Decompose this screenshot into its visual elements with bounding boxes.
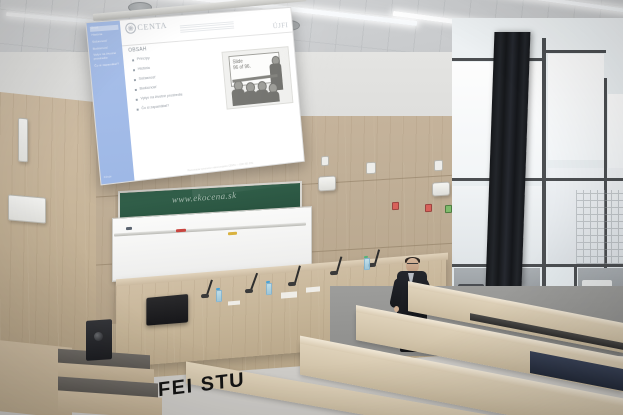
water-bottle — [216, 290, 222, 302]
wall-outlet — [425, 204, 432, 212]
bullet-text: Princípy — [137, 56, 150, 61]
presenter-glasses — [407, 263, 418, 267]
microphone-base — [245, 289, 253, 294]
slide-title: OBSAH — [128, 46, 147, 53]
water-bottle — [266, 283, 272, 295]
bullet-marker-icon — [133, 69, 135, 71]
window-mullion — [452, 178, 623, 181]
bullet-marker-icon — [132, 59, 134, 61]
cartoon-audience-body — [266, 91, 279, 103]
outside-fence — [576, 190, 623, 264]
wall-outlet — [445, 205, 452, 213]
bullet-text: Súčasnosť — [139, 75, 156, 81]
bottle-cap — [216, 288, 220, 290]
bullet-text: Vplyv na životné prostredie — [140, 93, 182, 101]
centa-wordmark: CENTA — [137, 21, 167, 32]
bullet-marker-icon — [135, 89, 137, 91]
slide-nav-footer-zdroje[interactable]: Zdroje — [104, 174, 112, 179]
red-marker — [176, 229, 186, 233]
bullet-marker-icon — [136, 98, 138, 100]
bullet-text: Čo si zapamätať? — [141, 104, 169, 111]
window-wall — [452, 18, 623, 308]
wall-sensor — [366, 162, 376, 175]
projection-screen: Úvod História Súčasnosť Budúcnosť Vplyv … — [85, 7, 304, 186]
laptop — [146, 294, 188, 326]
lecture-hall-photo: www.ekocena.sk Úvod História Súčasnosť B… — [0, 0, 623, 415]
slide-nav-item-buducnost[interactable]: Budúcnosť — [92, 45, 121, 52]
centa-logo: CENTA — [125, 20, 168, 34]
wall-speaker — [432, 182, 450, 197]
slide-nav-item-historia[interactable]: História — [90, 31, 119, 38]
presenter-left-hand — [394, 306, 399, 312]
board-eraser — [126, 227, 132, 230]
slide-nav-item-sucasnost[interactable]: Súčasnosť — [91, 38, 120, 45]
left-wall — [0, 92, 96, 352]
window-mullion — [452, 264, 623, 267]
wall-trim-strip — [18, 118, 28, 163]
chalkboard-handwriting: www.ekocena.sk — [172, 190, 237, 205]
bullet-item: Čo si zapamätať? — [136, 98, 227, 111]
bullet-text: Budúcnosť — [139, 85, 156, 91]
microphone-base — [330, 271, 338, 276]
header-hairline-texture — [180, 20, 235, 33]
window-mullion — [546, 50, 606, 53]
microphone-base — [201, 294, 209, 299]
wall-speaker — [8, 194, 46, 223]
microphone-base — [288, 282, 296, 287]
wood-grain-texture — [0, 92, 96, 352]
window-pane — [548, 54, 604, 160]
bullet-marker-icon — [137, 108, 139, 110]
bottle-cap — [364, 256, 368, 258]
wall-speaker — [318, 176, 336, 192]
bullet-marker-icon — [134, 79, 136, 81]
slide-bullet-list: Princípy História Súčasnosť Budúcnosť — [132, 50, 228, 117]
slide-nav-item-uvod[interactable]: Úvod — [90, 25, 119, 32]
cartoon-slide-counter: Slide 96 of 96. — [232, 59, 251, 72]
equipment-lens — [94, 332, 103, 341]
wall-sensor — [321, 156, 329, 166]
ujfi-logo: ÚJFI — [272, 20, 288, 30]
yellow-marker — [228, 232, 237, 236]
presentation-slide: Úvod História Súčasnosť Budúcnosť Vplyv … — [86, 8, 303, 185]
slide-nav-item-zapamatat[interactable]: Čo si zapamätať? — [93, 62, 122, 69]
bullet-text: História — [138, 66, 150, 71]
atom-icon — [125, 22, 137, 34]
paper-sheet — [281, 291, 297, 298]
wall-outlet — [392, 202, 399, 210]
slide-body: CENTA ÚJFI OBSAH Princípy História — [120, 8, 304, 181]
slide-nav-item-vplyv[interactable]: Vplyv na životné prostredie — [92, 51, 121, 62]
bottle-cap — [266, 281, 270, 283]
wall-sensor — [434, 160, 443, 171]
window-mullion — [542, 38, 546, 308]
slide-cartoon-image: Slide 96 of 96. — [222, 46, 294, 109]
water-bottle — [364, 258, 370, 270]
